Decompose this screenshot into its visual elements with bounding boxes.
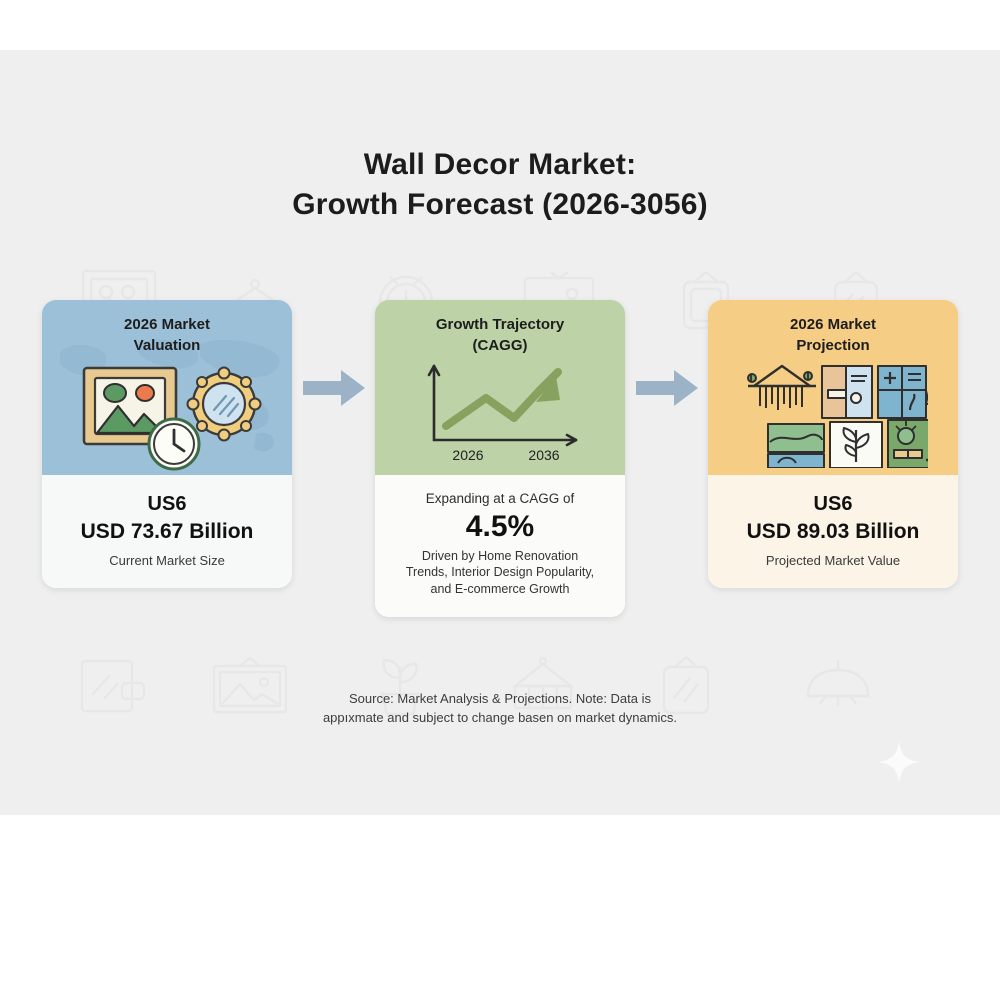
footer-line-2: appıxmate and subject to change basen on…	[0, 709, 1000, 728]
card-header-title: 2026 Market Valuation	[42, 300, 292, 356]
card-header-line-1: Growth Trajectory	[375, 314, 625, 335]
title-line-2: Growth Forecast (2026-3056)	[0, 185, 1000, 225]
card-market-valuation[interactable]: 2026 Market Valuation	[42, 300, 292, 588]
gallery-wall-collage-icon	[708, 360, 958, 468]
card-header: 2026 Market Valuation	[42, 300, 292, 475]
card-body: Expanding at a CAGG of 4.5% Driven by Ho…	[375, 475, 625, 617]
card-header-line-1: 2026 Market	[42, 314, 292, 335]
card-header-line-1: 2026 Market	[708, 314, 958, 335]
card-body: US6 USD 73.67 Billion Current Market Siz…	[42, 475, 292, 588]
value-amount: USD 89.03 Billion	[718, 518, 948, 546]
arrow-slot-1	[292, 300, 375, 475]
card-header: Growth Trajectory (CAGG) 2026	[375, 300, 625, 475]
sparkle-icon	[876, 739, 922, 785]
value-caption: Current Market Size	[52, 553, 282, 568]
card-header-line-2: (CAGG)	[375, 335, 625, 356]
value-currency: US6	[718, 491, 948, 518]
page-title: Wall Decor Market: Growth Forecast (2026…	[0, 145, 1000, 225]
cagg-lead-text: Expanding at a CAGG of	[385, 491, 615, 506]
card-header-line-2: Projection	[708, 335, 958, 356]
drivers-line-1: Driven by Home Renovation	[385, 548, 615, 565]
arrow-slot-2	[625, 300, 708, 475]
framed-picture-mirror-clock-icon	[42, 360, 292, 472]
footer-line-1: Source: Market Analysis & Projections. N…	[0, 690, 1000, 709]
drivers-line-2: Trends, Interior Design Popularity,	[385, 564, 615, 581]
footer-note: Source: Market Analysis & Projections. N…	[0, 690, 1000, 728]
drivers-line-3: and E-commerce Growth	[385, 581, 615, 598]
card-header: 2026 Market Projection	[708, 300, 958, 475]
arrow-right-icon	[301, 368, 367, 408]
value-currency: US6	[52, 491, 282, 518]
card-body: US6 USD 89.03 Billion Projected Market V…	[708, 475, 958, 588]
upward-trend-chart-icon: 2026 2036	[375, 360, 625, 470]
card-header-title: Growth Trajectory (CAGG)	[375, 300, 625, 356]
arrow-right-icon	[634, 368, 700, 408]
value-amount: USD 73.67 Billion	[52, 518, 282, 546]
growth-drivers: Driven by Home Renovation Trends, Interi…	[385, 548, 615, 598]
card-header-line-2: Valuation	[42, 335, 292, 356]
infographic-canvas: Wall Decor Market: Growth Forecast (2026…	[0, 50, 1000, 815]
card-growth-trajectory[interactable]: Growth Trajectory (CAGG) 2026	[375, 300, 625, 617]
value-caption: Projected Market Value	[718, 553, 948, 568]
title-line-1: Wall Decor Market:	[364, 148, 637, 181]
card-header-title: 2026 Market Projection	[708, 300, 958, 356]
card-market-projection[interactable]: 2026 Market Projection	[708, 300, 958, 588]
cards-row: 2026 Market Valuation	[42, 300, 958, 600]
cagg-percent: 4.5%	[385, 508, 615, 546]
x-tick-label-start: 2026	[452, 447, 483, 463]
x-tick-label-end: 2036	[528, 447, 559, 463]
